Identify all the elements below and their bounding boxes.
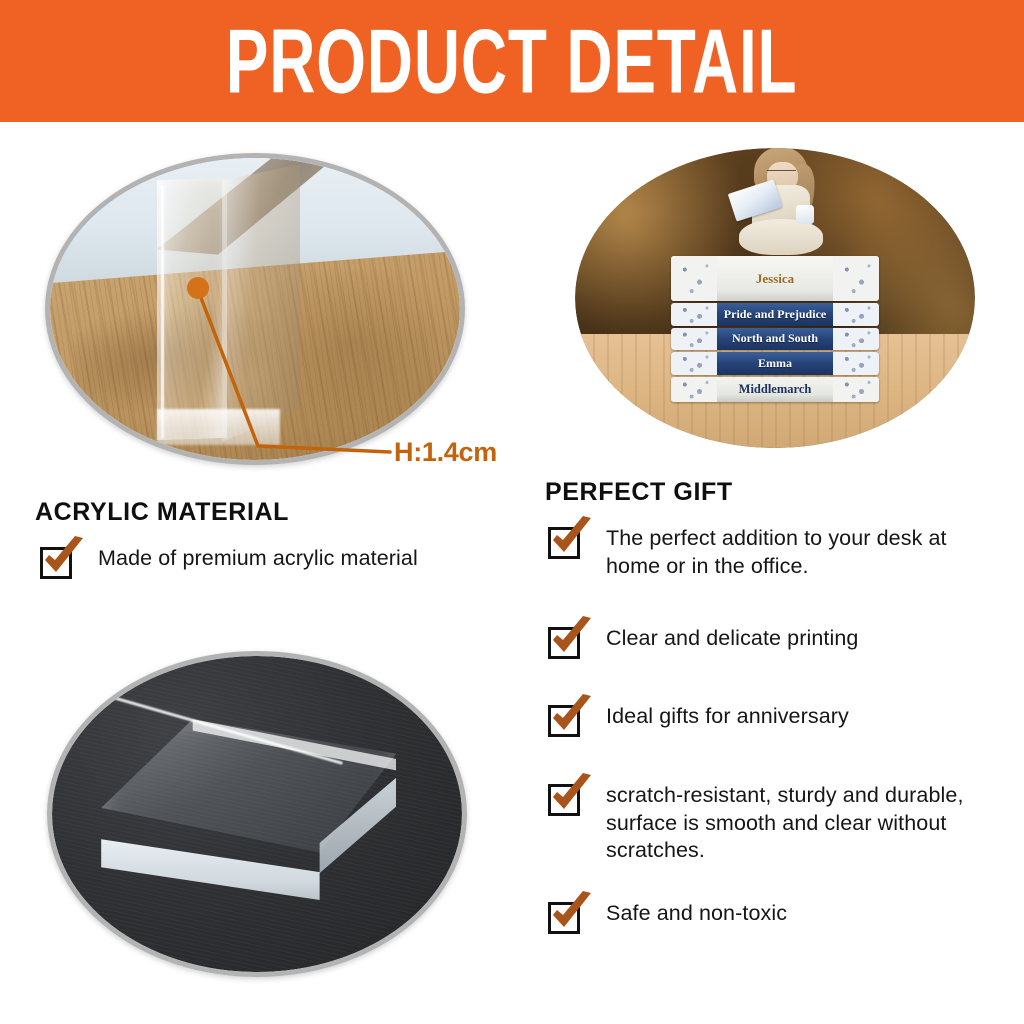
book-title: Pride and Prejudice	[724, 307, 826, 322]
book-spine: Pride and Prejudice	[671, 303, 879, 326]
photo-acrylic-block-edge	[45, 153, 465, 465]
checkbox-checked-icon[interactable]	[548, 902, 586, 940]
book-title: Emma	[758, 356, 792, 371]
book-title: Middlemarch	[739, 382, 812, 397]
checkbox-checked-icon[interactable]	[548, 705, 586, 743]
photo-acrylic-block-on-slate-inner	[52, 656, 462, 972]
list-item-label: Ideal gifts for anniversary	[606, 703, 849, 731]
checkmark-icon	[39, 536, 87, 582]
list-item-label: The perfect addition to your desk at hom…	[606, 525, 993, 580]
list-item: Clear and delicate printing	[548, 625, 993, 665]
checkmark-icon	[547, 616, 595, 662]
checkmark-icon	[547, 773, 595, 819]
book-floral-ornament-left	[671, 303, 717, 326]
list-item: Safe and non-toxic	[548, 900, 993, 940]
book-title: Jessica	[756, 271, 794, 287]
checkmark-icon	[547, 694, 595, 740]
product-detail-page: PRODUCT DETAIL	[0, 0, 1024, 1024]
list-item: The perfect addition to your desk at hom…	[548, 525, 993, 580]
book-stack: Jessica Pride and Prejudice North and So…	[671, 256, 879, 406]
book-spine: North and South	[671, 328, 879, 351]
figurine-crossed-legs	[739, 219, 822, 255]
acrylic-slab-front-face	[157, 178, 227, 440]
list-item-label: Clear and delicate printing	[606, 625, 859, 653]
book-floral-ornament-right	[833, 303, 879, 326]
checkmark-icon	[547, 516, 595, 562]
list-item: Made of premium acrylic material	[40, 545, 510, 585]
checkmark-icon	[547, 891, 595, 937]
figurine-woman-reading	[727, 148, 831, 265]
figurine-coffee-cup	[796, 205, 815, 224]
acrylic-slab-base-glow	[157, 409, 280, 445]
checkbox-checked-icon[interactable]	[548, 784, 586, 822]
book-floral-ornament-left	[671, 328, 717, 351]
callout-label-height: H:1.4cm	[394, 437, 497, 468]
list-item-label: Safe and non-toxic	[606, 900, 787, 928]
section-heading-perfect-gift: PERFECT GIFT	[545, 478, 733, 507]
glasses-icon	[767, 170, 796, 178]
page-header-banner: PRODUCT DETAIL	[0, 0, 1024, 122]
book-floral-ornament-right	[833, 256, 879, 301]
book-spine: Emma	[671, 352, 879, 375]
photo-acrylic-block-on-slate	[47, 651, 467, 977]
photo-book-stack-figurine: Jessica Pride and Prejudice North and So…	[575, 148, 975, 448]
checkbox-checked-icon[interactable]	[40, 547, 78, 585]
section-heading-acrylic-material: ACRYLIC MATERIAL	[35, 498, 289, 527]
checkbox-checked-icon[interactable]	[548, 627, 586, 665]
book-floral-ornament-left	[671, 256, 717, 301]
book-floral-ornament-right	[833, 377, 879, 403]
book-floral-ornament-right	[833, 352, 879, 375]
book-spine: Middlemarch	[671, 377, 879, 403]
list-item: Ideal gifts for anniversary	[548, 703, 993, 743]
book-floral-ornament-left	[671, 377, 717, 403]
acrylic-slab-side-face	[222, 164, 300, 442]
page-title: PRODUCT DETAIL	[226, 16, 798, 106]
book-floral-ornament-right	[833, 328, 879, 351]
book-spine: Jessica	[671, 256, 879, 301]
photo-acrylic-block-edge-inner	[50, 158, 460, 460]
checkbox-checked-icon[interactable]	[548, 527, 586, 565]
list-item-label: Made of premium acrylic material	[98, 545, 418, 573]
list-item-label: scratch-resistant, sturdy and durable, s…	[606, 782, 998, 865]
list-item: scratch-resistant, sturdy and durable, s…	[548, 782, 998, 865]
book-title: North and South	[732, 331, 818, 346]
acrylic-slab-highlight	[161, 185, 164, 439]
book-floral-ornament-left	[671, 352, 717, 375]
photo-book-stack-inner: Jessica Pride and Prejudice North and So…	[575, 148, 975, 448]
